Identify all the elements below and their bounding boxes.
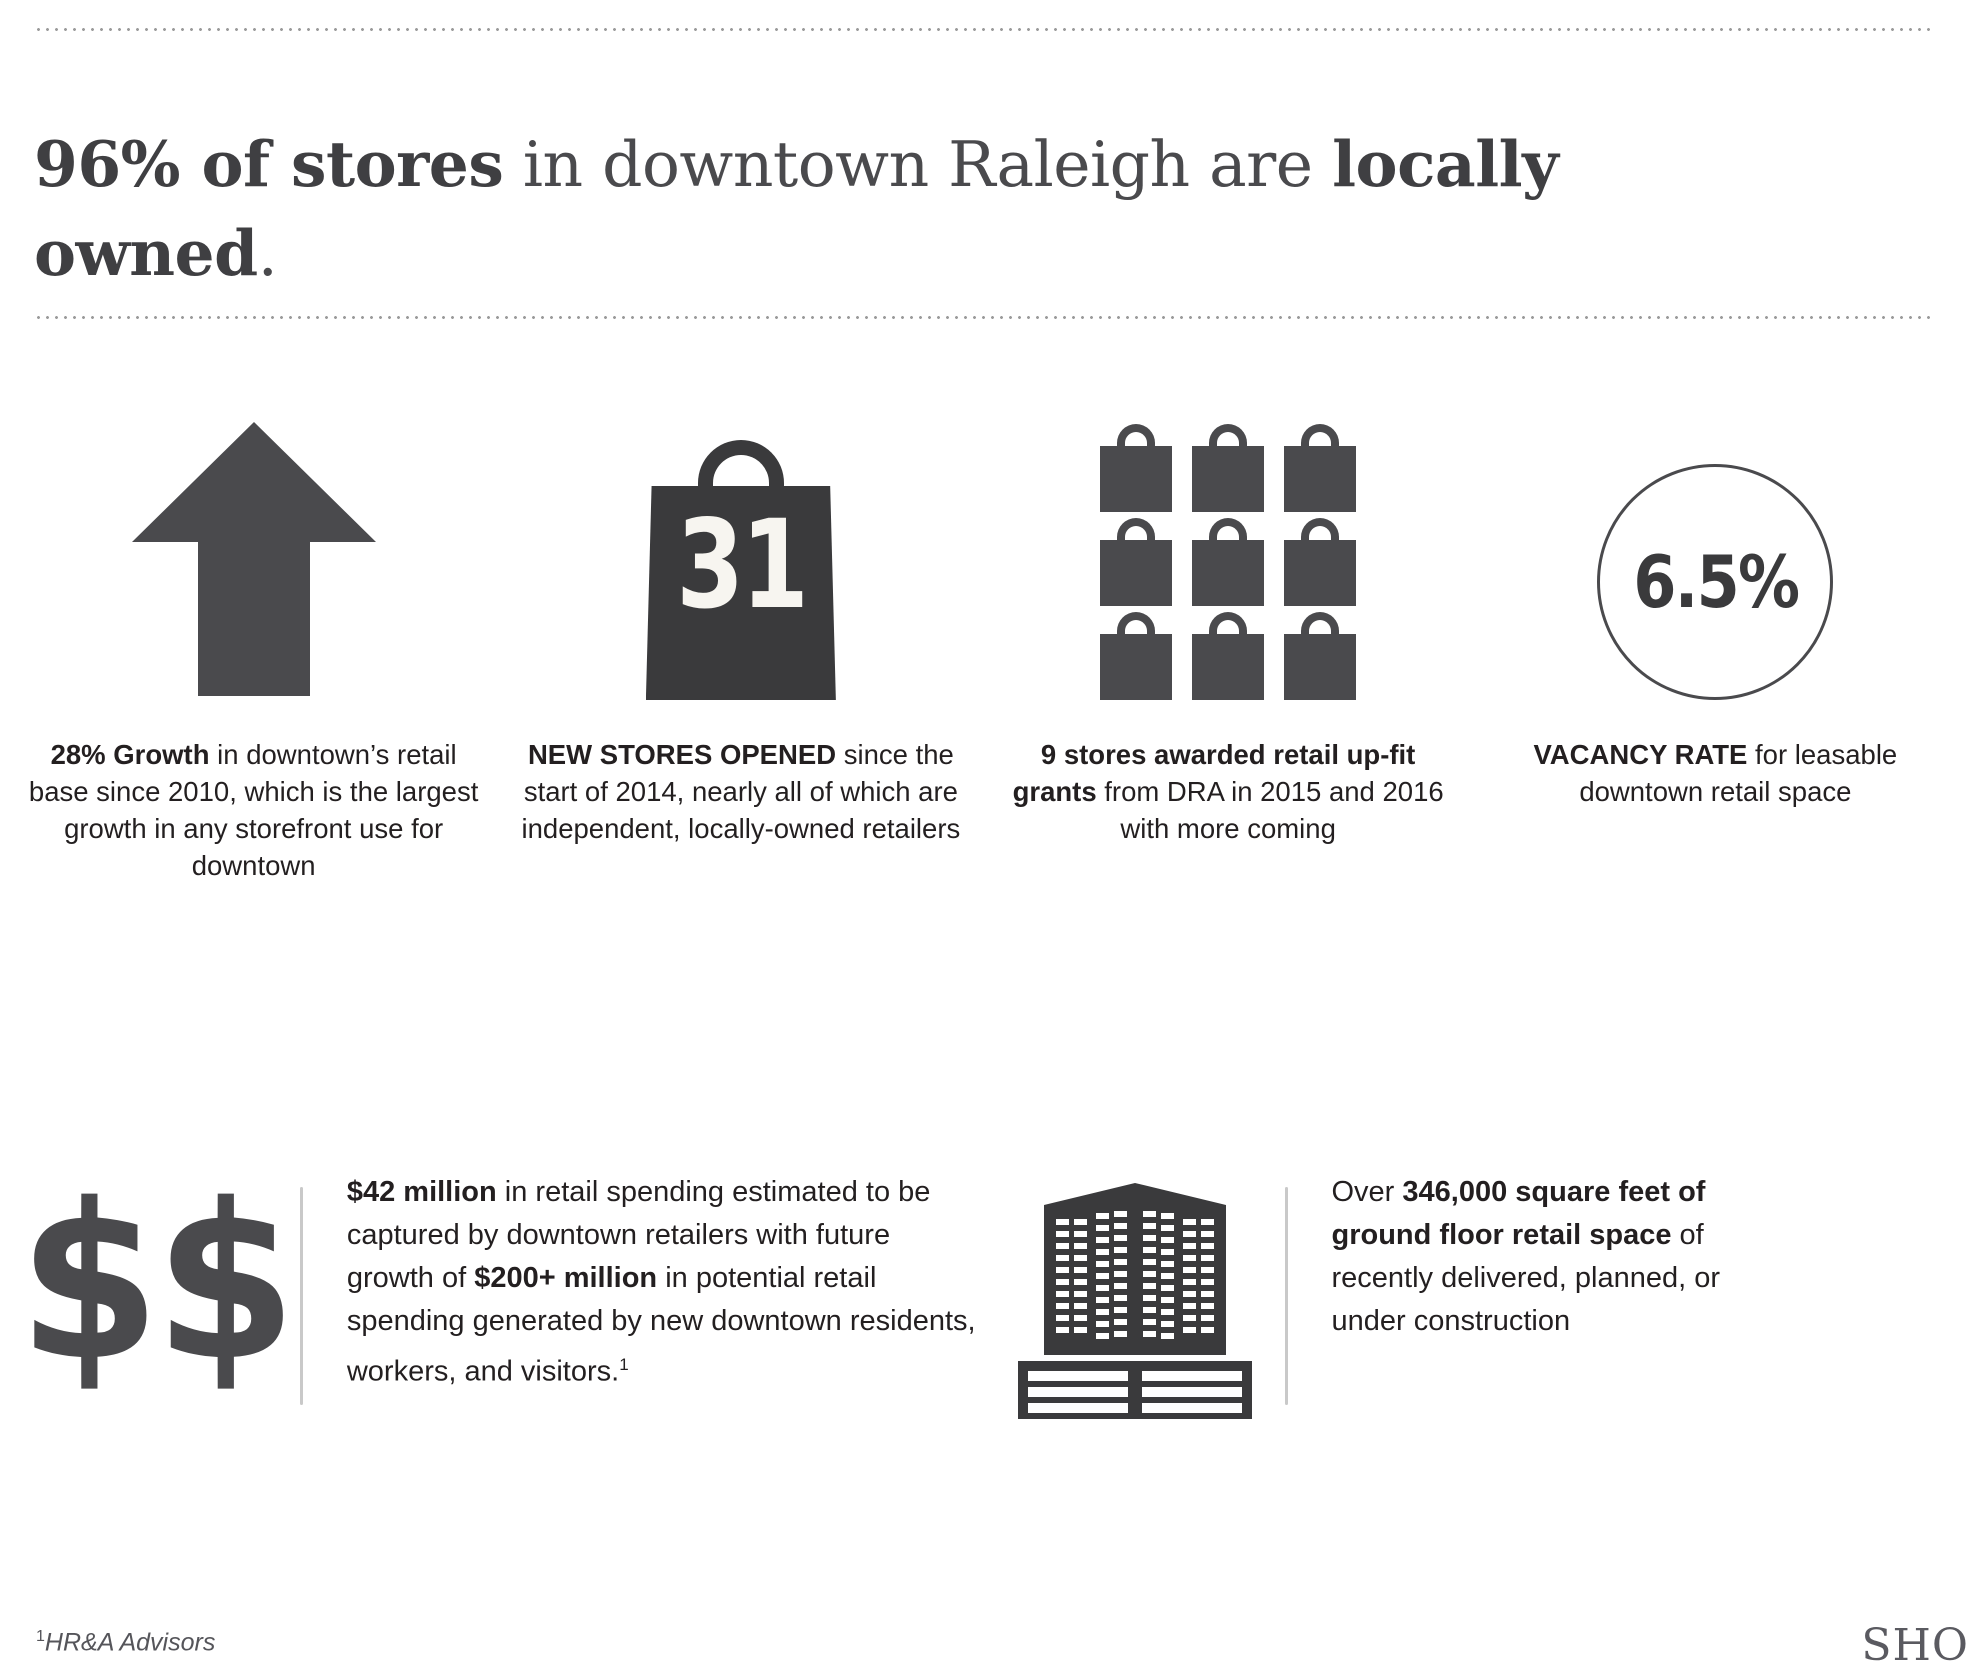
mini-bag-icon	[1100, 612, 1172, 700]
nine-shopping-bags-icon	[1100, 424, 1356, 700]
stat-caption: 28% Growth in downtown’s retail base sin…	[26, 736, 482, 884]
stat-caption-rest: from DRA in 2015 and 2016 with more comi…	[1097, 776, 1444, 844]
retail-space-text: Over 346,000 square feet of ground floor…	[1288, 1165, 1732, 1343]
mini-bag-icon	[1284, 518, 1356, 606]
stat-column-grants: 9 stores awarded retail up-fit grants fr…	[985, 400, 1472, 884]
top-dotted-divider	[34, 28, 1935, 31]
headline-period: .	[258, 217, 278, 290]
footnote-source: HR&A Advisors	[45, 1628, 215, 1656]
mid-dotted-divider	[34, 316, 1935, 319]
stat-caption: 9 stores awarded retail up-fit grants fr…	[1000, 736, 1456, 847]
bottom-block-retail-space: Over 346,000 square feet of ground floor…	[985, 1165, 1960, 1427]
bag-number: 31	[657, 504, 825, 626]
up-arrow-icon	[128, 418, 380, 700]
bag-handle	[698, 440, 784, 486]
mini-bag-icon	[1192, 612, 1264, 700]
stat-column-growth: 28% Growth in downtown’s retail base sin…	[10, 400, 497, 884]
stat-caption: VACANCY RATE for leasable downtown retai…	[1487, 736, 1943, 810]
stat-caption-bold: NEW STORES OPENED	[528, 739, 836, 770]
mini-bag-icon	[1192, 518, 1264, 606]
page-title: 96% of stores in downtown Raleigh are lo…	[34, 120, 1794, 298]
stat-column-vacancy: 6.5% VACANCY RATE for leasable downtown …	[1472, 400, 1959, 884]
footnote-reference: 1	[619, 1355, 628, 1374]
mini-bag-icon	[1100, 518, 1172, 606]
shopping-bag-icon: 31	[636, 440, 846, 700]
mini-bag-icon	[1100, 424, 1172, 512]
stats-row: 28% Growth in downtown’s retail base sin…	[10, 400, 1959, 884]
spending-amount: $42 million	[347, 1176, 497, 1208]
icon-area: 6.5%	[1472, 400, 1959, 700]
icon-area	[985, 400, 1472, 700]
stat-caption-bold: 28% Growth	[51, 739, 210, 770]
vacancy-rate-value: 6.5%	[1633, 546, 1798, 618]
mini-bag-icon	[1284, 424, 1356, 512]
headline-middle: in downtown Raleigh are	[503, 128, 1332, 201]
icon-area	[985, 1165, 1285, 1427]
bottom-block-spending: $$ $42 million in retail spending estima…	[10, 1165, 985, 1427]
mini-bag-icon	[1192, 424, 1264, 512]
stat-caption: NEW STORES OPENED since the start of 201…	[513, 736, 969, 847]
icon-area	[10, 400, 497, 700]
bottom-row: $$ $42 million in retail spending estima…	[10, 1165, 1959, 1427]
footnote-marker: 1	[36, 1628, 45, 1645]
spending-text: $42 million in retail spending estimated…	[303, 1165, 985, 1394]
retail-space-prefix: Over	[1332, 1176, 1403, 1208]
mini-bag-icon	[1284, 612, 1356, 700]
icon-area: 31	[497, 400, 984, 700]
stat-caption-bold: VACANCY RATE	[1534, 739, 1748, 770]
infographic-page: 96% of stores in downtown Raleigh are lo…	[0, 0, 1969, 1678]
building-icon	[1010, 1175, 1260, 1427]
footnote: 1HR&A Advisors	[36, 1628, 215, 1657]
headline-stat: 96% of stores	[34, 127, 503, 201]
vacancy-circle-icon: 6.5%	[1597, 464, 1833, 700]
dollar-signs-icon: $$	[18, 1175, 291, 1390]
icon-area: $$	[10, 1165, 300, 1390]
brand-mark: SHO	[1861, 1620, 1969, 1671]
stat-column-new-stores: 31 NEW STORES OPENED since the start of …	[497, 400, 984, 884]
future-growth-amount: $200+ million	[474, 1262, 657, 1294]
